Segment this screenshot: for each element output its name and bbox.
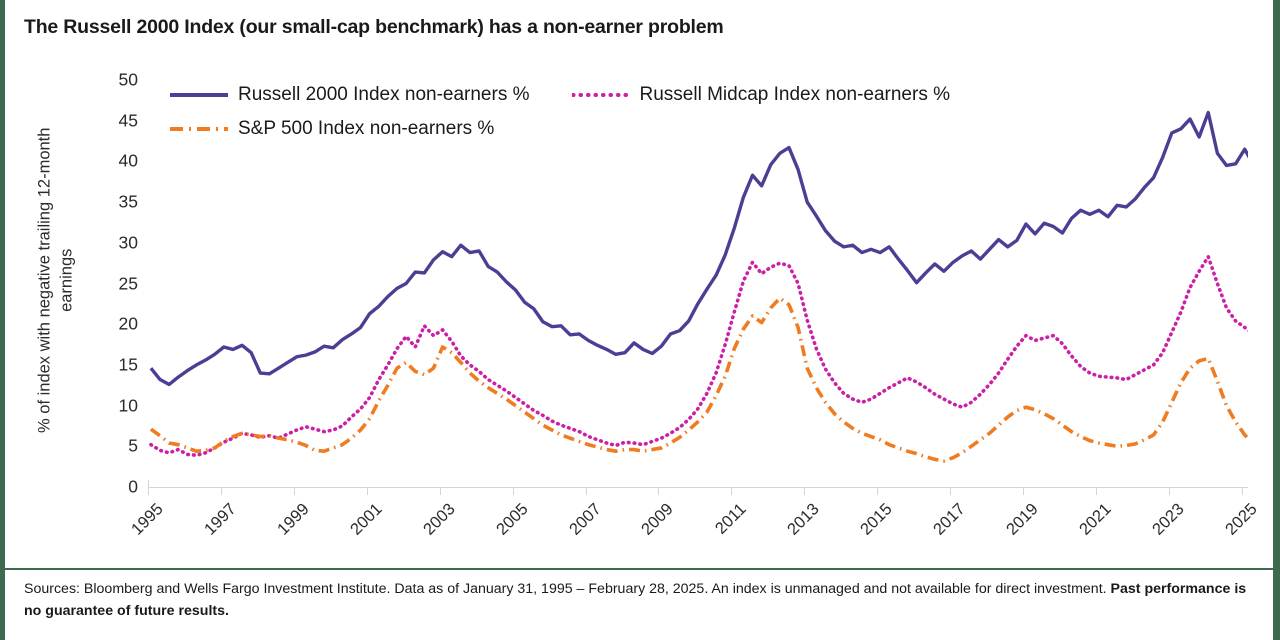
x-tick-2009 <box>658 487 659 495</box>
x-axis-line <box>148 487 1248 488</box>
y-axis-tick-20: 20 <box>94 314 138 335</box>
x-tick-2011 <box>731 487 732 495</box>
x-axis-left-cap <box>148 480 149 488</box>
legend-item-russell-midcap[interactable]: Russell Midcap Index non-earners % <box>572 84 951 106</box>
legend-line-dashdot-icon <box>170 120 228 138</box>
x-tick-1995 <box>148 487 149 495</box>
y-axis-tick-50: 50 <box>94 70 138 91</box>
x-tick-2017 <box>950 487 951 495</box>
y-axis-tick-25: 25 <box>94 273 138 294</box>
footnote: Sources: Bloomberg and Wells Fargo Inves… <box>24 578 1256 622</box>
footnote-line-2-normal: investment. <box>1034 581 1111 597</box>
y-axis-tick-10: 10 <box>94 395 138 416</box>
x-tick-1999 <box>294 487 295 495</box>
x-tick-2001 <box>367 487 368 495</box>
x-tick-2015 <box>877 487 878 495</box>
x-tick-2023 <box>1169 487 1170 495</box>
legend-row-top: Russell 2000 Index non-earners % Russell… <box>170 78 1250 112</box>
x-tick-2005 <box>513 487 514 495</box>
chart-legend: Russell 2000 Index non-earners % Russell… <box>170 78 1250 146</box>
x-tick-2003 <box>440 487 441 495</box>
legend-item-russell-2000[interactable]: Russell 2000 Index non-earners % <box>170 84 530 106</box>
legend-label-russell-midcap: Russell Midcap Index non-earners % <box>640 84 951 106</box>
y-axis-tick-40: 40 <box>94 151 138 172</box>
y-axis-tick-35: 35 <box>94 192 138 213</box>
legend-line-solid-icon <box>170 86 228 104</box>
series-line-1 <box>151 257 1248 456</box>
x-tick-2013 <box>804 487 805 495</box>
legend-row-bottom: S&P 500 Index non-earners % <box>170 112 1250 146</box>
legend-item-sp500[interactable]: S&P 500 Index non-earners % <box>170 118 494 140</box>
series-line-2 <box>151 298 1248 461</box>
x-tick-1997 <box>221 487 222 495</box>
legend-label-russell-2000: Russell 2000 Index non-earners % <box>238 84 530 106</box>
chart-figure: The Russell 2000 Index (our small-cap be… <box>0 0 1280 640</box>
x-tick-2007 <box>586 487 587 495</box>
series-line-0 <box>151 113 1248 385</box>
y-axis-tick-15: 15 <box>94 354 138 375</box>
y-axis-tick-5: 5 <box>94 436 138 457</box>
footnote-divider <box>0 568 1280 570</box>
x-tick-2025 <box>1242 487 1243 495</box>
y-axis-tick-0: 0 <box>94 477 138 498</box>
x-tick-2019 <box>1023 487 1024 495</box>
legend-label-sp500: S&P 500 Index non-earners % <box>238 118 494 140</box>
legend-line-dotted-icon <box>572 86 630 104</box>
y-axis-tick-30: 30 <box>94 232 138 253</box>
x-tick-2021 <box>1096 487 1097 495</box>
y-axis-tick-45: 45 <box>94 110 138 131</box>
footnote-line-1: Sources: Bloomberg and Wells Fargo Inves… <box>24 581 1030 597</box>
